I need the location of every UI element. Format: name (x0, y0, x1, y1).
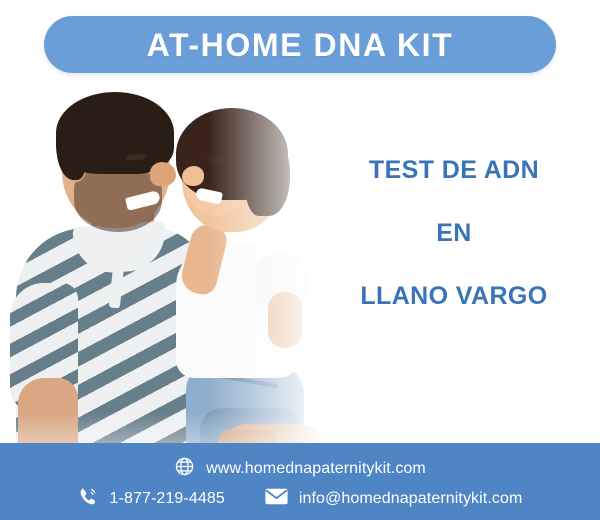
footer-row-phone-email: 1-877-219-4485 info@homednapaternitykit.… (0, 486, 600, 512)
poster-root: AT-HOME DNA KIT (0, 0, 600, 520)
phone-text: 1-877-219-4485 (110, 491, 225, 507)
photo-man-nose (150, 162, 176, 186)
photo-child-hair-side (246, 134, 290, 216)
page-title: AT-HOME DNA KIT (147, 29, 454, 61)
headline-line-1: TEST DE ADN (318, 158, 590, 183)
headline-block: TEST DE ADN EN LLANO VARGO (318, 158, 590, 309)
family-photo (0, 78, 336, 458)
website-item[interactable]: www.homednapaternitykit.com (174, 456, 426, 482)
website-text: www.homednapaternitykit.com (206, 461, 426, 477)
headline-line-3: LLANO VARGO (318, 284, 590, 309)
title-banner: AT-HOME DNA KIT (44, 16, 556, 73)
headline-line-2: EN (318, 221, 590, 246)
email-text: info@homednapaternitykit.com (299, 491, 523, 507)
photo-child-arm-right (268, 292, 302, 348)
footer-contact-bar: www.homednapaternitykit.com 1-877-219-44… (0, 443, 600, 520)
footer-row-website: www.homednapaternitykit.com (0, 456, 600, 482)
phone-item[interactable]: 1-877-219-4485 (78, 486, 225, 512)
photo-child-nose (182, 166, 204, 186)
globe-icon (174, 456, 195, 482)
envelope-icon (265, 488, 288, 510)
email-item[interactable]: info@homednapaternitykit.com (265, 488, 523, 510)
photo-man-sideburn (56, 118, 86, 180)
phone-icon (78, 486, 99, 512)
